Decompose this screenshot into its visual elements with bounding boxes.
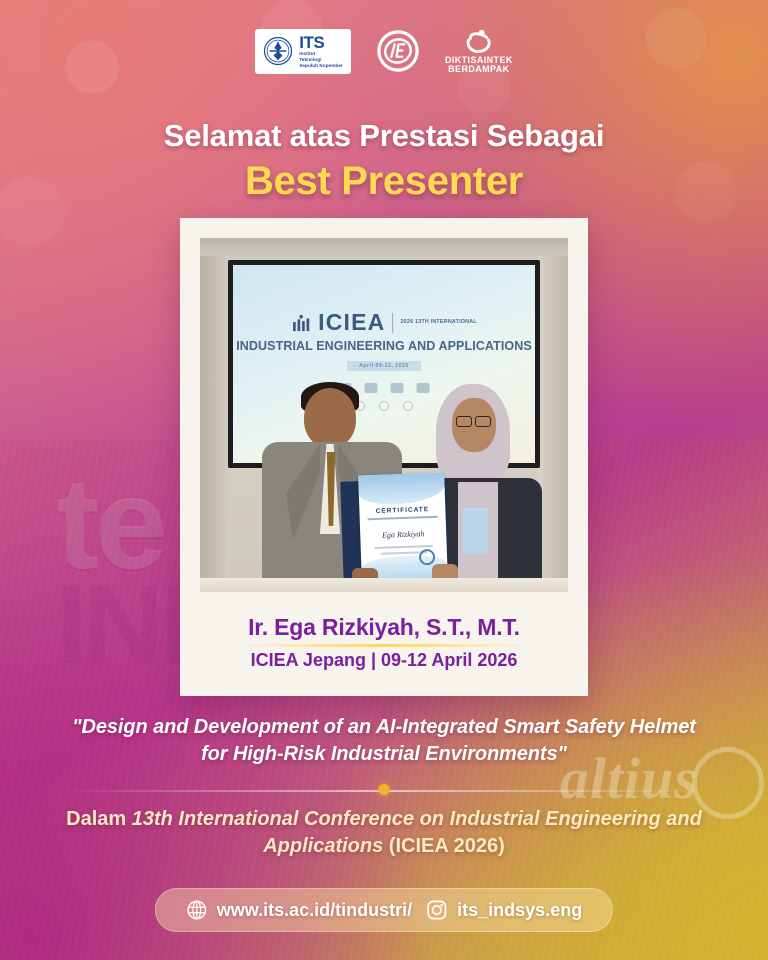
sponsor-logo <box>403 401 413 411</box>
headline-line1: Selamat atas Prestasi Sebagai <box>0 118 768 154</box>
person-right-glasses-left <box>456 416 472 427</box>
sponsor-logo <box>417 383 430 393</box>
diktisaintek-logo: DIKTISAINTEK BERDAMPAK <box>445 28 513 75</box>
paper-title: "Design and Development of an AI-Integra… <box>62 714 706 768</box>
its-sub-line2: Teknologi <box>299 58 343 63</box>
instagram-text: its_indsys.eng <box>457 900 582 921</box>
slide-brand-text: ICIEA <box>318 309 385 336</box>
headline-line2: Best Presenter <box>0 159 768 204</box>
globe-icon <box>186 899 208 921</box>
headline-block: Selamat atas Prestasi Sebagai Best Prese… <box>0 118 768 204</box>
photo-table-edge <box>200 578 568 592</box>
photo-curtain-right <box>538 256 568 592</box>
awardee-underline <box>236 644 532 647</box>
awardee-event: ICIEA Jepang | 09-12 April 2026 <box>180 650 588 671</box>
its-logo: ITS Institut Teknologi Sepuluh Nopember <box>255 29 351 74</box>
section-divider-dot <box>379 784 390 795</box>
diktisaintek-line2: BERDAMPAK <box>448 65 509 74</box>
certificate-text-line <box>375 545 433 549</box>
certificate-title: CERTIFICATE <box>359 506 445 516</box>
its-wordmark-text: ITS <box>299 34 343 51</box>
iciea-bars-icon <box>291 314 311 332</box>
slide-brand: ICIEA 2026 13TH INTERNATIONAL <box>291 309 477 336</box>
award-photo: ICIEA 2026 13TH INTERNATIONAL INDUSTRIAL… <box>200 238 568 592</box>
conference-line: Dalam 13th International Conference on I… <box>56 806 712 860</box>
sponsor-logo <box>365 383 378 393</box>
diktisaintek-text: DIKTISAINTEK BERDAMPAK <box>445 56 513 75</box>
poster-canvas: te INDUSTRI altius ITS Institut Teknolog… <box>0 0 768 960</box>
slide-date: April 09-12, 2026 <box>347 361 421 371</box>
person-right-lanyard-badge <box>462 508 488 554</box>
photo-card: ICIEA 2026 13TH INTERNATIONAL INDUSTRIAL… <box>180 218 588 696</box>
person-right-glasses-right <box>475 416 491 427</box>
instagram-item[interactable]: its_indsys.eng <box>426 899 582 921</box>
person-left-head <box>304 388 356 448</box>
slide-title: INDUSTRIAL ENGINEERING AND APPLICATIONS <box>236 339 532 353</box>
its-wordmark: ITS Institut Teknologi Sepuluh Nopember <box>299 34 343 69</box>
logo-strip: ITS Institut Teknologi Sepuluh Nopember … <box>0 28 768 75</box>
slide-brand-divider <box>392 313 393 333</box>
diktisaintek-figure-icon <box>464 28 494 54</box>
ie-circle-logo-icon <box>377 30 419 72</box>
certificate-wave-top <box>358 473 445 506</box>
certificate-subrule <box>368 516 438 520</box>
its-sub-line1: Institut <box>299 52 343 57</box>
certificate-name: Ega Rizkiyah <box>360 528 446 540</box>
awardee-name: Ir. Ega Rizkiyah, S.T., M.T. <box>180 614 588 641</box>
sponsor-logo <box>379 401 389 411</box>
its-seal-icon <box>263 36 293 66</box>
website-item[interactable]: www.its.ac.id/tindustri/ <box>186 899 412 921</box>
conference-suffix: (ICIEA 2026) <box>383 835 505 857</box>
its-sub-line3: Sepuluh Nopember <box>299 64 343 69</box>
footer-contact-bar: www.its.ac.id/tindustri/ its_indsys.eng <box>155 888 613 932</box>
website-text: www.its.ac.id/tindustri/ <box>217 900 412 921</box>
photo-curtain-left <box>200 256 230 592</box>
instagram-icon <box>426 899 448 921</box>
conference-prefix: Dalam <box>66 808 132 830</box>
slide-kicker-line1: 2026 13TH INTERNATIONAL <box>400 319 476 326</box>
sponsor-logo <box>391 383 404 393</box>
watermark-left-line1: te <box>56 450 164 596</box>
slide-sponsor-row-2 <box>355 401 413 411</box>
